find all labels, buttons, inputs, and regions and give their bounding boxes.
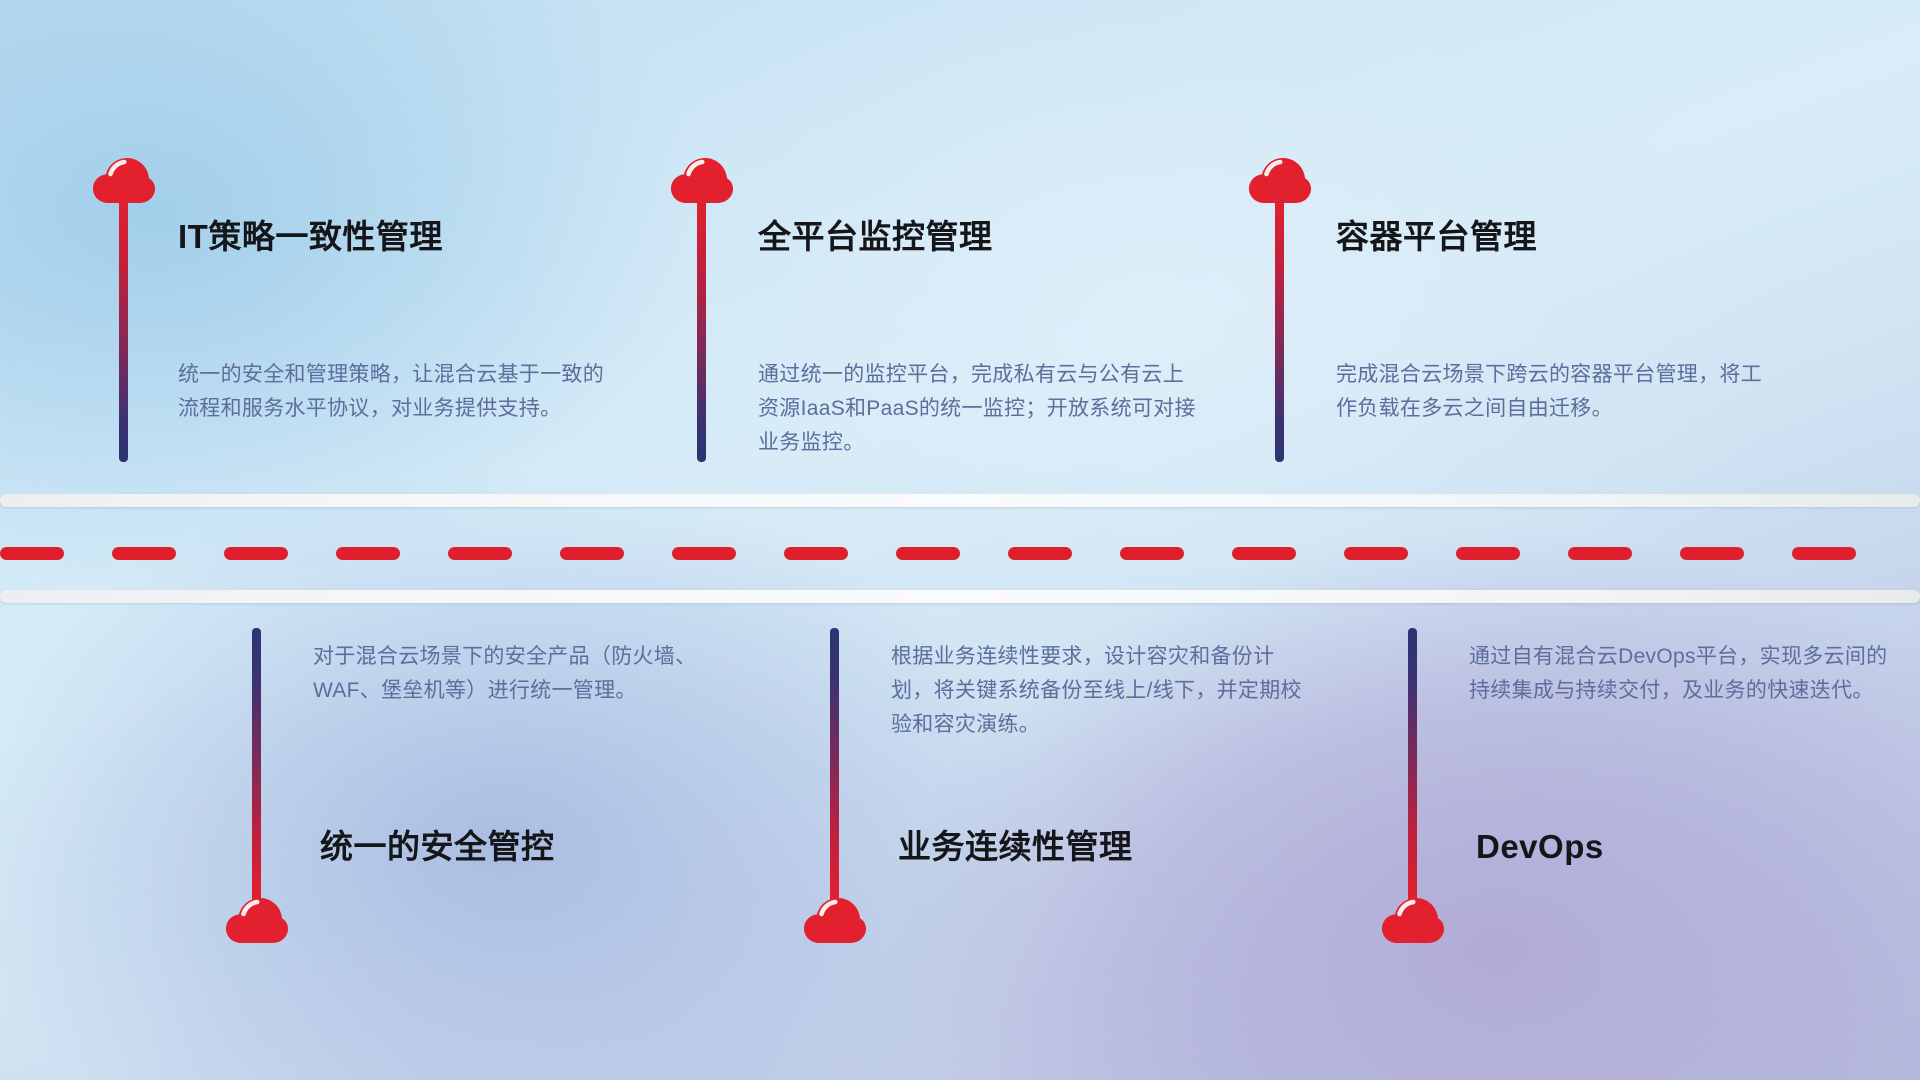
cloud-icon [226, 898, 288, 944]
dash-segment [1232, 547, 1296, 560]
dash-segment [0, 547, 64, 560]
dash-segment [1344, 547, 1408, 560]
top-item-3-heading: 容器平台管理 [1336, 220, 1537, 253]
timeline-stem [1275, 196, 1284, 462]
rail-bar [0, 590, 1920, 603]
dash-segment [1680, 547, 1744, 560]
timeline-stem [119, 196, 128, 462]
divider-dashed-line [0, 546, 1920, 560]
dash-segment [1456, 547, 1520, 560]
bottom-item-3-body: 通过自有混合云DevOps平台，实现多云间的持续集成与持续交付，及业务的快速迭代… [1469, 640, 1889, 708]
timeline-stem [697, 196, 706, 462]
bottom-item-1-heading: 统一的安全管控 [320, 830, 555, 863]
timeline-stem [830, 628, 839, 906]
timeline-stem [1408, 628, 1417, 906]
bottom-item-1-body: 对于混合云场景下的安全产品（防火墙、WAF、堡垒机等）进行统一管理。 [313, 640, 733, 708]
dash-segment [1008, 547, 1072, 560]
divider-rail-bottom [0, 590, 1920, 603]
dash-segment [336, 547, 400, 560]
bottom-item-3-heading: DevOps [1476, 830, 1604, 863]
bottom-item-2-heading: 业务连续性管理 [898, 830, 1133, 863]
top-item-2-heading: 全平台监控管理 [758, 220, 993, 253]
cloud-icon [804, 898, 866, 944]
dash-segment [784, 547, 848, 560]
dash-segment [672, 547, 736, 560]
top-item-3-body: 完成混合云场景下跨云的容器平台管理，将工作负载在多云之间自由迁移。 [1336, 358, 1766, 426]
dash-segment [448, 547, 512, 560]
dash-segment [1120, 547, 1184, 560]
divider-rail-top [0, 494, 1920, 507]
top-item-2-body: 通过统一的监控平台，完成私有云与公有云上资源IaaS和PaaS的统一监控；开放系… [758, 358, 1198, 460]
rail-bar [0, 494, 1920, 507]
dash-segment [560, 547, 624, 560]
dash-segment [224, 547, 288, 560]
dash-segment [1792, 547, 1856, 560]
timeline-stem [252, 628, 261, 906]
dash-segment [896, 547, 960, 560]
infographic-canvas: IT策略一致性管理 统一的安全和管理策略，让混合云基于一致的流程和服务水平协议，… [0, 0, 1920, 1080]
top-item-1-heading: IT策略一致性管理 [178, 220, 443, 253]
top-item-1-body: 统一的安全和管理策略，让混合云基于一致的流程和服务水平协议，对业务提供支持。 [178, 358, 610, 426]
cloud-icon [1382, 898, 1444, 944]
dash-segment [112, 547, 176, 560]
bottom-item-2-body: 根据业务连续性要求，设计容灾和备份计划，将关键系统备份至线上/线下，并定期校验和… [891, 640, 1311, 742]
dash-segment [1568, 547, 1632, 560]
